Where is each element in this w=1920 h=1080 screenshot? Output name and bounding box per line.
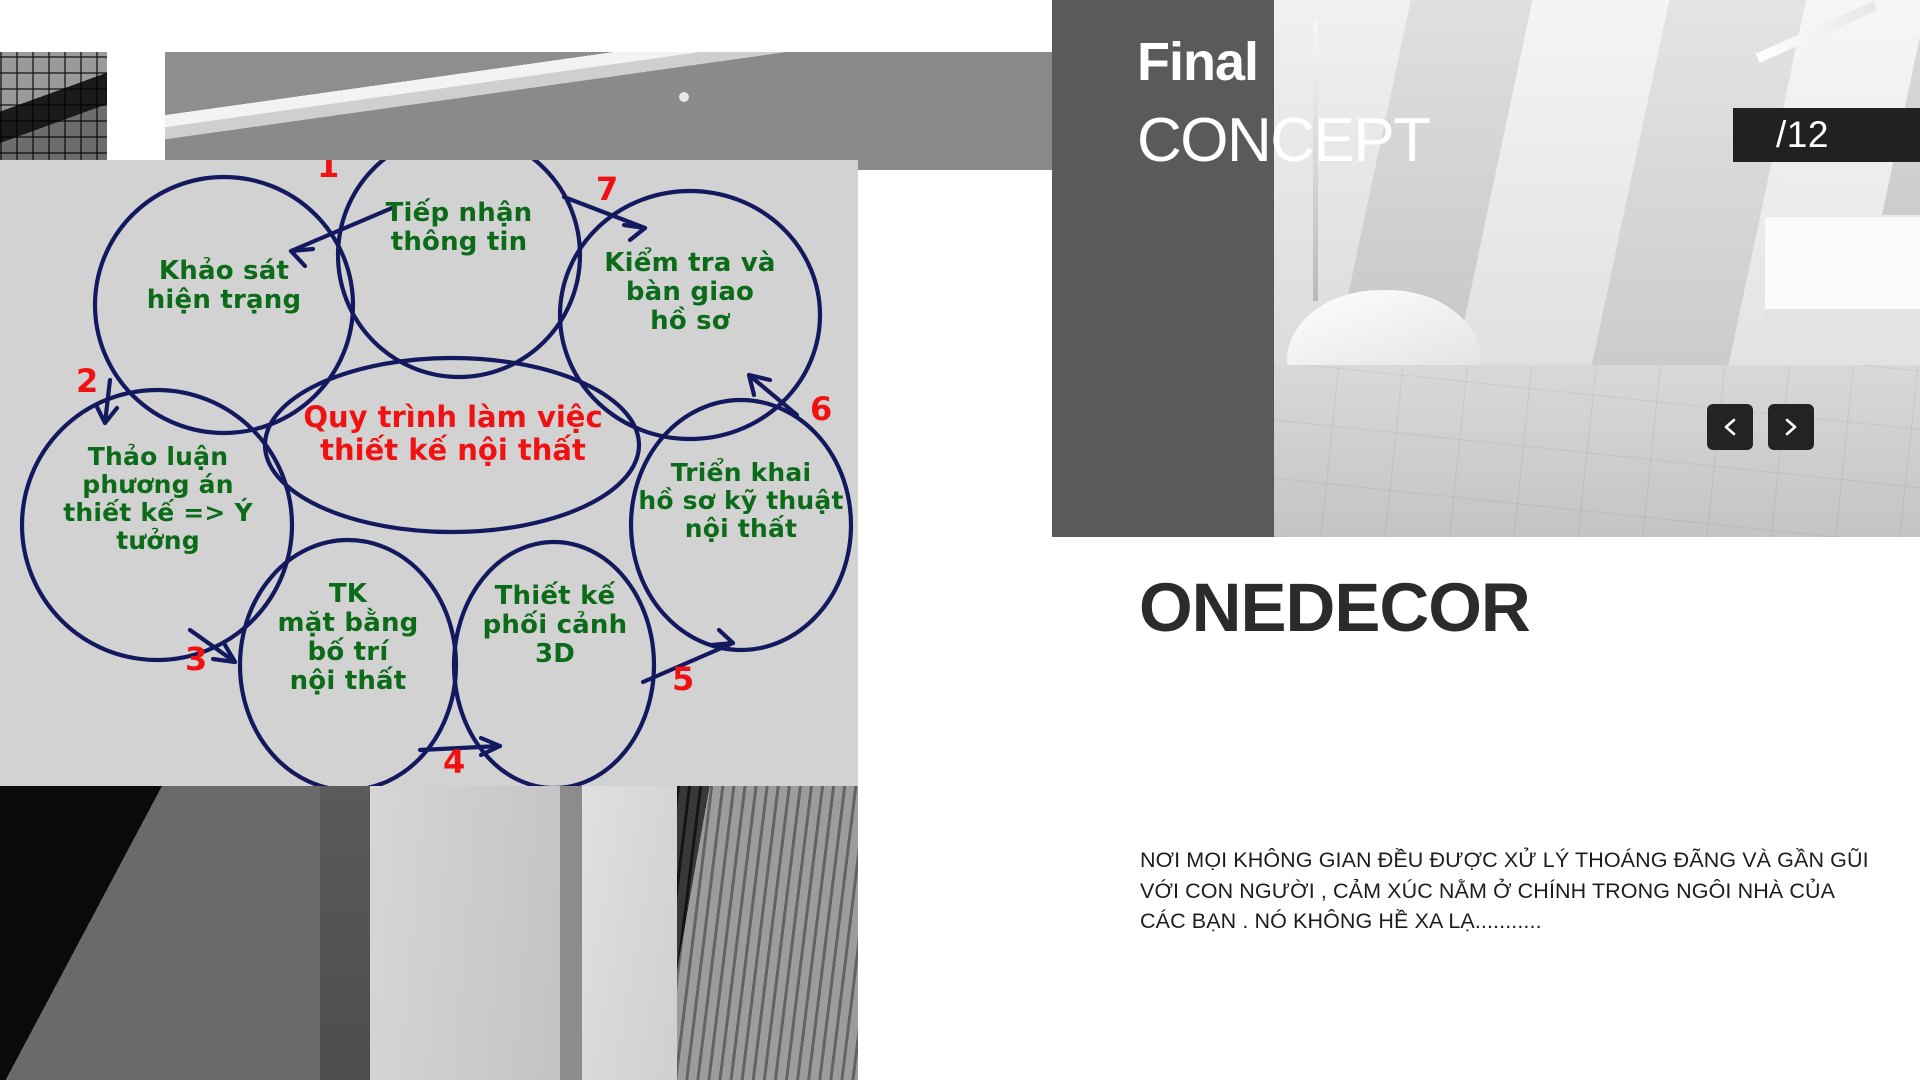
slide-title-concept: CONCEPT bbox=[1137, 110, 1430, 172]
node-line: nội thất bbox=[248, 667, 448, 696]
collage-white-gap-right bbox=[165, 0, 1052, 52]
node-line: Thảo luận bbox=[24, 443, 292, 471]
collage-photo-right bbox=[165, 52, 1052, 170]
nav-prev-button[interactable] bbox=[1707, 404, 1753, 450]
chevron-left-icon bbox=[1721, 417, 1739, 437]
bottom-photo-5 bbox=[582, 786, 677, 1080]
node-line: TK bbox=[248, 580, 448, 609]
node-line: Kiểm tra và bbox=[560, 249, 820, 278]
bottom-photo-3 bbox=[370, 786, 560, 1080]
node-line: thông tin bbox=[339, 228, 579, 257]
chevron-right-icon bbox=[1782, 417, 1800, 437]
collage-photo-left bbox=[0, 52, 107, 170]
node-line: hiện trạng bbox=[84, 286, 364, 315]
node-line: Triển khai bbox=[630, 459, 852, 487]
node-line: hồ sơ bbox=[560, 307, 820, 336]
node-line: bàn giao bbox=[560, 278, 820, 307]
node-line: tưởng bbox=[24, 527, 292, 555]
slide-root: Khảo sát hiện trạng Tiếp nhận thông tin … bbox=[0, 0, 1920, 1080]
hero-floor-tiles bbox=[1274, 365, 1920, 537]
bottom-photo-strip bbox=[0, 786, 858, 1080]
slide-title-final: Final bbox=[1137, 35, 1258, 89]
collage-white-gap-left bbox=[0, 0, 107, 52]
bottom-photo-1 bbox=[0, 786, 320, 1080]
diagram-node-tk-mat-bang: TK mặt bằng bố trí nội thất bbox=[248, 580, 448, 696]
nav-next-button[interactable] bbox=[1768, 404, 1814, 450]
node-line: phương án bbox=[24, 471, 292, 499]
diagram-node-khao-sat-hien-trang: Khảo sát hiện trạng bbox=[84, 257, 364, 315]
node-line: thiết kế => Ý bbox=[24, 499, 292, 527]
circle-tiep-nhan bbox=[338, 160, 580, 377]
diagram-step-7: 7 bbox=[596, 170, 618, 208]
node-line: Thiết kế bbox=[456, 582, 654, 611]
node-line: Tiếp nhận bbox=[339, 199, 579, 228]
diagram-node-tiep-nhan-thong-tin: Tiếp nhận thông tin bbox=[339, 199, 579, 257]
node-line: bố trí bbox=[248, 638, 448, 667]
brand-title: ONEDECOR bbox=[1139, 573, 1530, 642]
ceiling-light-icon bbox=[1756, 1, 1878, 63]
node-line: Khảo sát bbox=[84, 257, 364, 286]
body-copy-text: NƠI MỌI KHÔNG GIAN ĐỀU ĐƯỢC XỬ LÝ THOÁNG… bbox=[1140, 845, 1870, 937]
node-line: phối cảnh bbox=[456, 611, 654, 640]
diagram-node-kiem-tra-ban-giao: Kiểm tra và bàn giao hồ sơ bbox=[560, 249, 820, 336]
top-photo-collage bbox=[0, 52, 1052, 170]
node-line: hồ sơ kỹ thuật bbox=[630, 487, 852, 515]
diagram-step-1: 1 bbox=[317, 160, 339, 185]
center-line: Quy trình làm việc bbox=[270, 401, 636, 434]
vanity-unit bbox=[1765, 215, 1920, 365]
left-pane: Khảo sát hiện trạng Tiếp nhận thông tin … bbox=[0, 0, 1052, 1080]
bottom-photo-6 bbox=[677, 786, 858, 1080]
node-line: 3D bbox=[456, 640, 654, 669]
process-diagram-image: Khảo sát hiện trạng Tiếp nhận thông tin … bbox=[0, 160, 858, 786]
node-line: nội thất bbox=[630, 515, 852, 543]
page-number-badge: /12 bbox=[1733, 108, 1920, 162]
bottom-photo-2 bbox=[320, 786, 370, 1080]
diagram-center-title: Quy trình làm việc thiết kế nội thất bbox=[270, 401, 636, 468]
node-line: mặt bằng bbox=[248, 609, 448, 638]
diagram-node-thao-luan-phuong-an: Thảo luận phương án thiết kế => Ý tưởng bbox=[24, 443, 292, 555]
diagram-step-3: 3 bbox=[185, 640, 207, 678]
bottom-white-gap bbox=[858, 786, 1052, 1080]
center-line: thiết kế nội thất bbox=[270, 434, 636, 467]
diagram-step-4: 4 bbox=[443, 743, 465, 781]
diagram-node-trien-khai-ho-so: Triển khai hồ sơ kỹ thuật nội thất bbox=[630, 459, 852, 543]
arrow-7-head bbox=[624, 225, 645, 240]
diagram-step-2: 2 bbox=[76, 362, 98, 400]
diagram-step-6: 6 bbox=[810, 390, 832, 428]
diagram-node-thiet-ke-phoi-canh-3d: Thiết kế phối cảnh 3D bbox=[456, 582, 654, 669]
arrow-5-head bbox=[712, 630, 733, 645]
bottom-photo-4 bbox=[560, 786, 582, 1080]
diagram-step-5: 5 bbox=[672, 660, 694, 698]
